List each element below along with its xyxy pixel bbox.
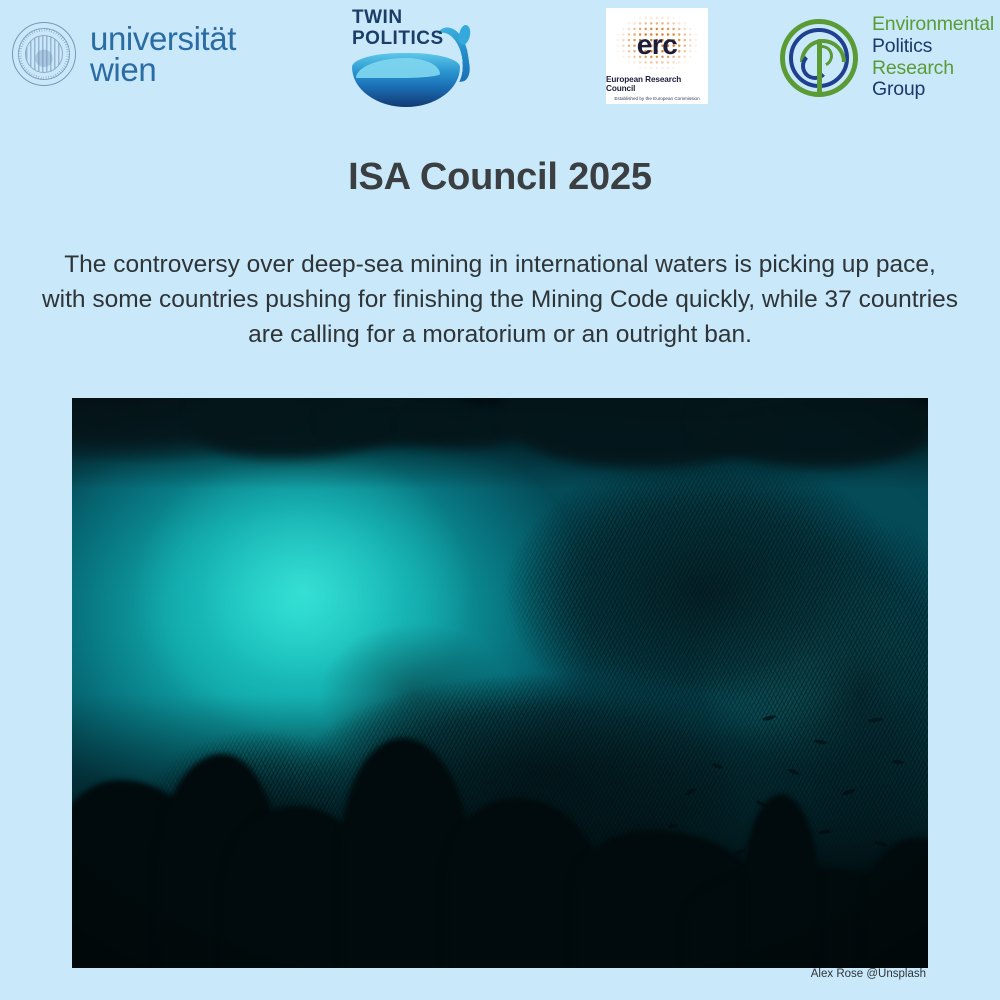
environmental-politics-research-group-logo: Environmental Politics Research Group — [780, 14, 994, 101]
twin-politics-logo: TWIN POLITICS — [352, 8, 470, 107]
twin-politics-line2: POLITICS — [352, 29, 444, 50]
photo-vignette-layer — [72, 398, 928, 968]
universitaet-wien-line2: wien — [90, 54, 236, 85]
twin-politics-line1: TWIN — [352, 8, 403, 29]
eprg-line1: Environmental — [872, 14, 994, 36]
erc-dot-burst-icon: erc — [609, 11, 705, 73]
university-seal-icon — [12, 22, 76, 86]
underwater-diver-fish-school-photo — [72, 398, 928, 968]
eprg-line4: Group — [872, 79, 994, 101]
page-title: ISA Council 2025 — [0, 156, 1000, 199]
erc-tagline: Established by the European Commission — [614, 96, 699, 101]
erc-logo: erc European Research Council Establishe… — [606, 8, 708, 104]
erc-acronym: erc — [609, 29, 705, 61]
photo-credit: Alex Rose @Unsplash — [811, 968, 926, 980]
body-paragraph: The controversy over deep-sea mining in … — [40, 248, 960, 352]
universitaet-wien-logo: universität wien — [12, 22, 236, 86]
universitaet-wien-wordmark: universität wien — [90, 23, 236, 86]
universitaet-wien-line1: universität — [90, 23, 236, 54]
logo-bar: universität wien TWIN POLITICS erc Europ… — [0, 0, 1000, 112]
eprg-wordmark: Environmental Politics Research Group — [872, 14, 994, 101]
water-droplet-wave-icon — [352, 45, 470, 107]
eprg-line3: Research — [872, 58, 994, 80]
eprg-line2: Politics — [872, 36, 994, 58]
circular-tree-icon — [780, 19, 858, 97]
erc-full-name: European Research Council — [606, 75, 708, 93]
